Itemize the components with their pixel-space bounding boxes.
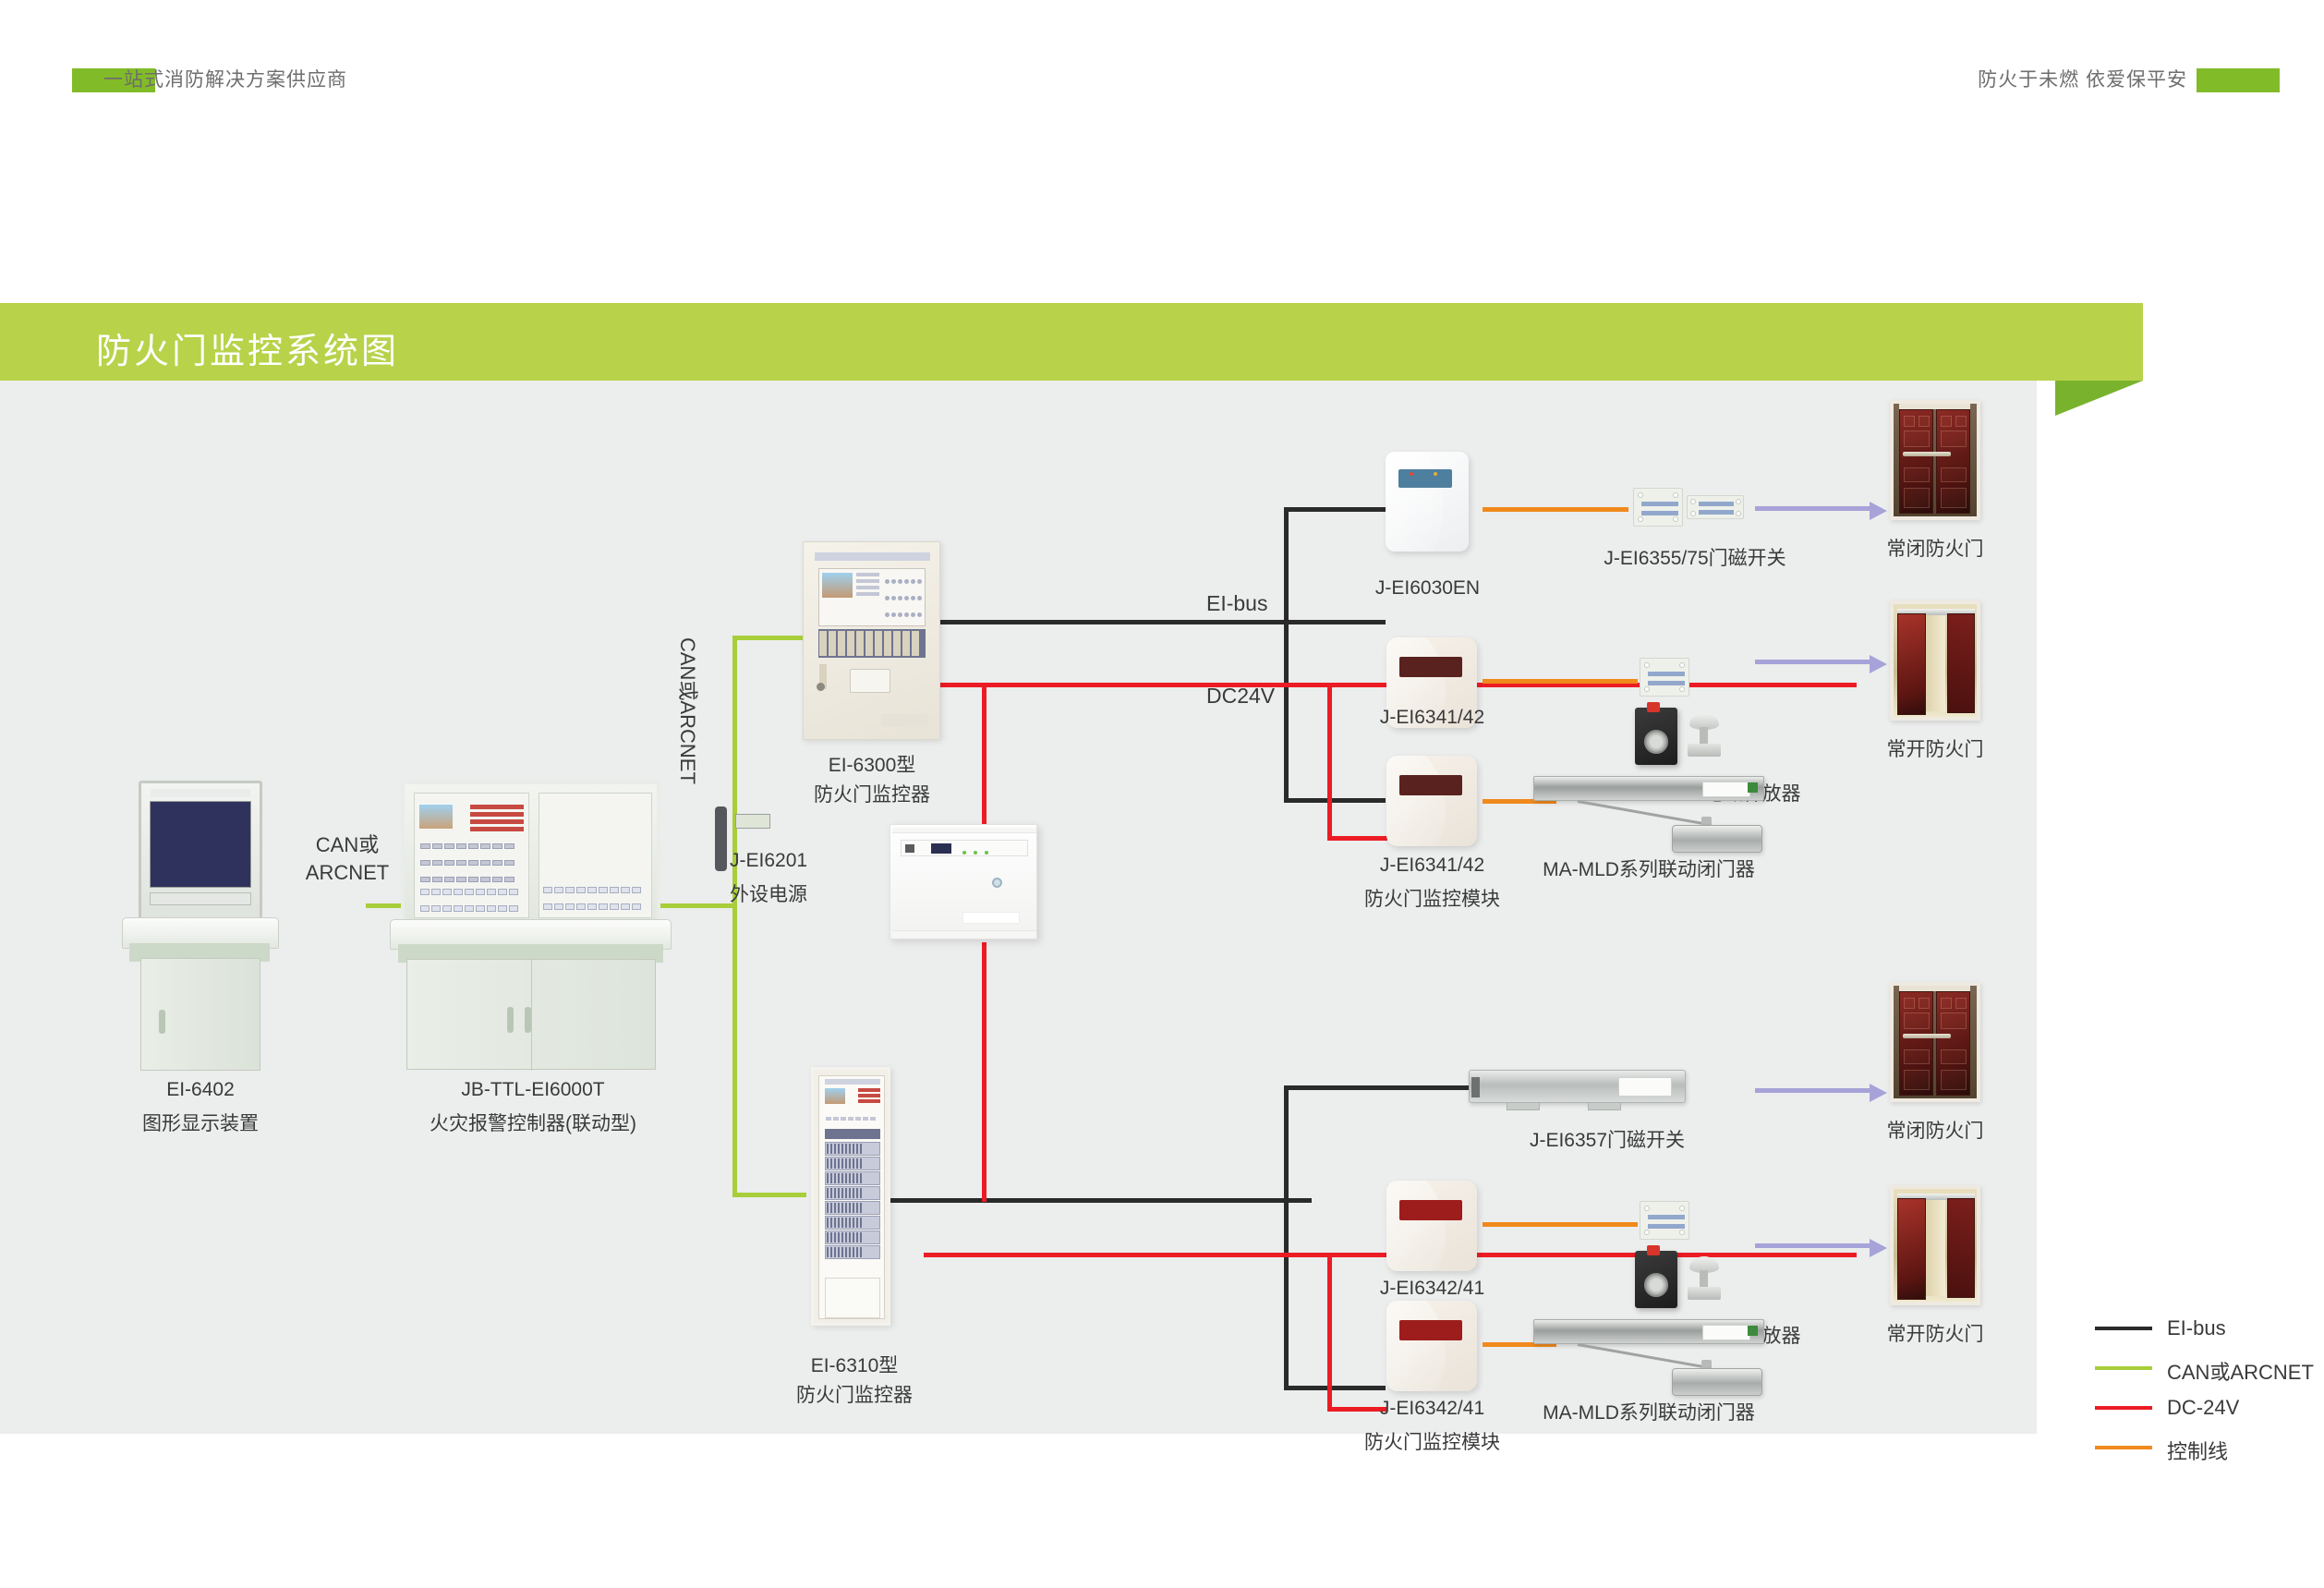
ei6300-title-plate (815, 552, 930, 561)
arrowhead-door-closed-top (1870, 502, 1887, 520)
wire-arrow-door-closed-bot (1755, 1088, 1875, 1093)
ma-mld-slide-track-top (1533, 776, 1764, 801)
caption-j-ei6201-name: J-EI6201 (730, 850, 878, 872)
wire-eibus-bottom-main (887, 1198, 1312, 1203)
device-j-ei6357[interactable] (1469, 1070, 1686, 1103)
ei6000t-button-bank (419, 838, 524, 888)
ei6000t-lcd (419, 805, 453, 829)
ei6357-spec-label (1618, 1077, 1672, 1097)
qr-code-icon-bottom (1748, 1326, 1758, 1336)
ei6000t-zone-grid (419, 884, 524, 915)
psu-bottom-trim (892, 930, 1036, 938)
photo-door-open-bottom (1890, 1185, 1980, 1305)
ei6000t-panel (401, 781, 660, 926)
ei4354-armature-plate-bottom (1686, 1256, 1723, 1303)
wire-arrow-door-open-top (1755, 660, 1875, 664)
caption-ei-6300-name: EI-6300型 (729, 750, 1015, 778)
legend-item-ei-bus: EI-bus (2095, 1314, 2307, 1353)
ei6000t-right-section (539, 793, 652, 918)
ei6300-lcd (822, 573, 853, 598)
caption-door-open-bottom: 常开防火门 (1852, 1319, 2018, 1347)
caption-j-ei6201-sub: 外设电源 (730, 879, 878, 907)
ei6402-screen (150, 801, 251, 888)
header-tagline-left: 一站式消防解决方案供应商 (103, 68, 347, 92)
ei6300-printer-door (850, 669, 890, 693)
ei6300-card-slots (818, 629, 926, 658)
device-ei-6300[interactable] (803, 541, 940, 740)
ei6402-keypad (150, 892, 251, 905)
device-door-magnet-mid[interactable] (1640, 658, 1695, 697)
ma-mld-label-bottom (1702, 1325, 1750, 1340)
wire-control-6341-to-magnet (1483, 679, 1638, 684)
label-ei-bus: EI-bus (1206, 591, 1267, 616)
ribbon-fold-corner (2055, 381, 2143, 416)
caption-door-closed-bottom: 常闭防火门 (1852, 1116, 2018, 1144)
legend: EI-bus CAN或ARCNET DC-24V 控制线 (2095, 1314, 2307, 1473)
arrowhead-door-closed-bot (1870, 1084, 1887, 1102)
caption-j-ei6342-41-lower-sub: 防火门监控模块 (1333, 1427, 1531, 1455)
ei6342-label-plate-lower (1399, 1320, 1462, 1340)
ei6000t-right-grid (542, 882, 648, 914)
ei6300-button-column (856, 573, 879, 600)
ei6310-alarm-bars (858, 1088, 880, 1105)
ei6341-label-plate-lower (1399, 775, 1462, 795)
label-dc24v: DC24V (1206, 684, 1275, 709)
caption-ei-6310-sub: 防火门监控器 (739, 1380, 970, 1408)
legend-label-control-line: 控制线 (2167, 1436, 2228, 1465)
wire-can-to-ei6300 (732, 636, 806, 640)
wire-can-vertical-trunk (732, 636, 737, 1197)
arrowhead-door-open-top (1870, 655, 1887, 673)
ma-mld-arm-bottom (1578, 1343, 1705, 1368)
legend-swatch-dc24v (2095, 1406, 2152, 1410)
caption-ma-mld-top: MA-MLD系列联动闭门器 (1496, 855, 1801, 882)
caption-ei-6402-name: EI-6402 (48, 1079, 353, 1101)
ei6310-title-plate (825, 1079, 880, 1085)
ei6357-end-cap (1471, 1077, 1480, 1097)
wire-dc24v-to-6341-lower (1327, 836, 1387, 841)
psu-status-leds (959, 843, 1005, 860)
device-j-ei6342-41-upper[interactable] (1386, 1181, 1477, 1271)
caption-j-ei6342-41-upper: J-EI6342/41 (1333, 1278, 1531, 1300)
page-title: 防火门监控系统图 (96, 322, 399, 373)
legend-label-can-arcnet: CAN或ARCNET (2167, 1356, 2314, 1386)
ma-mld-slide-track-bottom (1533, 1319, 1764, 1344)
ei4354-magnet-box-top (1635, 708, 1677, 765)
ei4354-release-button-top[interactable] (1647, 702, 1660, 712)
wire-eibus-bottom-riser (1284, 1085, 1289, 1390)
label-can-arcnet-vertical: CAN或ARCNET (674, 637, 704, 784)
header-tagline-right: 防火于未燃 依爱保平安 (1978, 68, 2187, 92)
photo-door-closed-bottom (1890, 982, 1980, 1102)
ei6375-magnet-body (1687, 495, 1744, 519)
caption-ei-6310-name: EI-6310型 (739, 1351, 970, 1378)
ei6000t-microphone-handset (715, 806, 727, 871)
caption-jb-ttl-ei6000t-name: JB-TTL-EI6000T (381, 1079, 685, 1101)
ei4354-magnet-face-top (1644, 730, 1668, 754)
ei6000t-display (735, 814, 770, 829)
wire-control-6342-to-magnet (1483, 1222, 1638, 1227)
ei6030en-action-led (1410, 472, 1413, 476)
device-j-ei6342-41-lower[interactable] (1386, 1301, 1477, 1391)
legend-swatch-ei-bus (2095, 1327, 2152, 1330)
psu-lock-knob[interactable] (992, 878, 1002, 888)
caption-door-closed-top: 常闭防火门 (1852, 534, 2018, 562)
qr-code-icon (1748, 782, 1758, 793)
door-magnet-mid-body (1640, 658, 1689, 697)
ei4354-magnet-box-bottom (1635, 1251, 1677, 1308)
ei6310-lcd (825, 1088, 845, 1104)
caption-jb-ttl-ei6000t-sub: 火灾报警控制器(联动型) (381, 1109, 685, 1136)
ei6310-front-panel (818, 1075, 885, 1319)
ma-mld-closer-body-bottom (1672, 1368, 1762, 1396)
ei6000t-alarm-bars (470, 805, 524, 830)
caption-ei-6402-sub: 图形显示装置 (48, 1109, 353, 1136)
wire-dc24v-from-psu-down (982, 942, 986, 1202)
device-jb-ttl-ei6000t[interactable] (390, 781, 672, 1074)
ei4354-magnet-face-bottom (1644, 1273, 1668, 1297)
legend-swatch-control-line (2095, 1446, 2152, 1449)
wire-control-6030-to-6355 (1483, 507, 1628, 512)
ei6402-door-handle (159, 1010, 165, 1034)
ei6355-switch-body (1633, 488, 1683, 527)
ma-mld-label-top (1702, 782, 1750, 797)
wire-dc24v-top-riser (1327, 683, 1332, 840)
device-j-ei4354-top[interactable] (1635, 702, 1737, 767)
legend-item-dc24v: DC-24V (2095, 1393, 2307, 1433)
legend-label-dc24v: DC-24V (2167, 1396, 2239, 1420)
device-j-ei6030en[interactable] (1386, 452, 1469, 552)
ei6000t-door-handle-left (507, 1007, 514, 1033)
caption-j-ei6357: J-EI6357门磁开关 (1469, 1125, 1746, 1153)
legend-label-ei-bus: EI-bus (2167, 1316, 2226, 1340)
photo-door-open-top (1890, 600, 1980, 721)
ei4354-armature-plate-top (1686, 713, 1723, 759)
wire-eibus-to-6341-lower (1284, 798, 1386, 803)
header-accent-bar-right (2197, 68, 2280, 92)
ei6300-faceplate (818, 568, 926, 626)
wire-eibus-top-main (924, 620, 1386, 624)
ei6000t-cabinet (406, 959, 656, 1070)
ma-mld-arm-top (1578, 800, 1705, 825)
ei6342-label-plate-upper (1399, 1200, 1462, 1220)
wire-eibus-to-6357 (1284, 1085, 1469, 1090)
caption-ma-mld-bottom: MA-MLD系列联动闭门器 (1496, 1398, 1801, 1425)
wire-eibus-top-riser (1284, 507, 1289, 803)
ei6357-mount-bracket-left (1507, 1102, 1540, 1110)
ei6000t-left-section (414, 793, 529, 918)
ei6357-mount-bracket-right (1588, 1102, 1621, 1110)
device-j-ei6201[interactable] (890, 824, 1037, 939)
legend-item-control-line: 控制线 (2095, 1433, 2307, 1473)
psu-indicator-strip (901, 840, 1028, 856)
psu-power-switch[interactable] (905, 844, 914, 853)
ei6030en-fault-led (1434, 472, 1437, 476)
wire-dc24v-bottom-riser (1327, 1253, 1332, 1410)
ei6402-brand-strip (151, 789, 250, 797)
arrowhead-door-open-bot (1870, 1239, 1887, 1257)
ei6310-banner-bar (825, 1129, 880, 1139)
caption-j-ei6341-42-upper: J-EI6341/42 (1333, 707, 1531, 729)
ei6402-monitor-shell (139, 781, 262, 921)
psu-model-label (962, 912, 1020, 924)
device-ei-6310[interactable] (811, 1067, 890, 1326)
device-j-ei4354-bottom[interactable] (1635, 1245, 1737, 1310)
device-ei-6402[interactable] (122, 781, 279, 1074)
ei6030en-label-plate (1398, 469, 1452, 488)
ei6310-loop-cards (825, 1142, 880, 1274)
door-magnet-bottom-body (1640, 1201, 1689, 1240)
psu-seven-segment-display (931, 843, 951, 854)
wire-arrow-door-closed-top (1755, 506, 1875, 511)
ei4354-release-button-bottom[interactable] (1647, 1245, 1660, 1255)
ei6310-base-logo-panel (825, 1278, 880, 1318)
ei6300-brand-logo (881, 714, 927, 727)
ei6341-label-plate-upper (1399, 657, 1462, 677)
caption-j-ei6030en: J-EI6030EN (1328, 577, 1527, 600)
wire-eibus-to-6342-lower (1284, 1386, 1386, 1390)
device-j-ei6355-75[interactable] (1633, 488, 1744, 527)
wire-can-to-ei6310 (732, 1193, 806, 1197)
wire-arrow-door-open-bot (1755, 1243, 1875, 1248)
psu-top-trim (892, 828, 1036, 833)
system-diagram-page: 一站式消防解决方案供应商 防火于未燃 依爱保平安 防火门监控系统图 CAN或 A… (0, 0, 2324, 1588)
caption-ei-6300-sub: 防火门监控器 (729, 780, 1015, 807)
caption-j-ei6341-42-lower-sub: 防火门监控模块 (1333, 884, 1531, 912)
ei6310-keypad (825, 1109, 880, 1126)
legend-swatch-can-arcnet (2095, 1366, 2152, 1370)
legend-item-can-arcnet: CAN或ARCNET (2095, 1353, 2307, 1393)
photo-door-closed-top (1890, 400, 1980, 520)
caption-door-open-top: 常开防火门 (1852, 734, 2018, 762)
ei6300-lock (817, 683, 825, 691)
ma-mld-closer-body-top (1672, 825, 1762, 853)
ei6000t-door-handle-right (525, 1007, 531, 1033)
wire-eibus-to-6030en (1284, 507, 1386, 512)
caption-j-ei6355-75: J-EI6355/75门磁开关 (1552, 543, 1838, 571)
device-door-magnet-bottom[interactable] (1640, 1201, 1695, 1240)
device-j-ei6341-42-lower[interactable] (1386, 756, 1477, 846)
